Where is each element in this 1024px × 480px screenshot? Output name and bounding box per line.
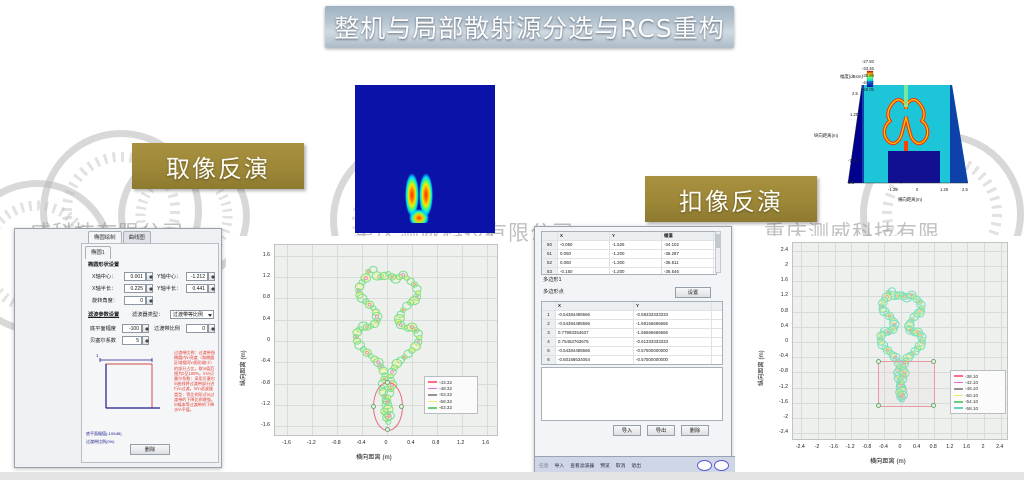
y-axis-tick: 2.4 — [768, 247, 788, 253]
legend-value: -58.10 — [965, 406, 978, 411]
plot3d-x-tick: 1.25 — [940, 187, 948, 192]
legend-value: -54.10 — [965, 399, 978, 404]
table-cell: -0.54384485666 — [556, 347, 634, 355]
x-axis-tick: 0.8 — [432, 440, 439, 446]
field-trans-ratio[interactable]: 0 — [186, 324, 208, 333]
spinner-rotation[interactable] — [146, 296, 153, 305]
x-axis-tick: 0.8 — [930, 444, 937, 450]
left-chart-legend: -43.32 -48.32 -53.32 -58.32 -63.32 — [424, 376, 478, 414]
table-row[interactable]: 510.050-1.200-36.287 — [542, 250, 716, 259]
rect-selection-overlay[interactable] — [878, 361, 935, 407]
table-header-cell: Y — [610, 232, 662, 240]
table-header-cell: X — [556, 302, 634, 310]
y-axis-tick: -2.4 — [768, 429, 788, 435]
mid-software-window: XY幅值50-0.050-1.525-34.102510.050-1.200-3… — [534, 226, 732, 474]
plot3d-cb-tick: -38.99 — [862, 73, 874, 78]
plot3d-cb-tick: -50.05 — [862, 87, 874, 92]
y-axis-tick: -1.2 — [250, 401, 270, 407]
y-axis-tick: 1.2 — [250, 273, 270, 279]
delete-row-button[interactable]: 删除 — [681, 425, 709, 436]
legend-value: -43.32 — [439, 380, 452, 385]
table-cell: 6 — [542, 356, 556, 364]
plot3d-y-tick: 2.5 — [852, 91, 858, 96]
legend-swatch — [428, 401, 437, 403]
status-view-filter[interactable]: 查看滤波器 — [570, 462, 594, 469]
table-cell: 0.050 — [558, 259, 610, 267]
table-header-row: XY — [542, 302, 722, 311]
table-row[interactable]: 6-0.50168634064-0.57500000000 — [542, 356, 722, 365]
plot3d-x-axis-title: 横向距离(m) — [898, 197, 922, 203]
section-label-polygon-points: 多边形点 — [543, 289, 564, 296]
diagram-label-ratio: 过渡带比例(0%) — [86, 438, 114, 445]
table-cell: 51 — [542, 250, 558, 258]
y-axis-tick: 1.2 — [768, 292, 788, 298]
status-preview[interactable]: 预览 — [600, 462, 610, 469]
filter-type-select[interactable]: 过渡带等比例 — [170, 310, 214, 319]
spinner-y-center[interactable] — [208, 272, 215, 281]
diagram-tick-top: 1 — [96, 352, 98, 359]
table-cell: -36.287 — [662, 250, 714, 258]
table-cell: -1.200 — [610, 250, 662, 258]
left-chart-x-title: 横向距离 (m) — [356, 452, 392, 461]
table-cell: 3 — [542, 329, 556, 337]
point-coordinate-table[interactable]: XY1-0.54384485666-0.583333333332-0.54384… — [541, 301, 723, 365]
table-cell: 5 — [542, 347, 556, 355]
ellipse-handle[interactable] — [399, 404, 404, 409]
screenshot-root: 威科技有限公司 重庆测威科技有限公司 重庆测威科技有限 整机与局部散射源分选与R… — [0, 0, 1024, 480]
field-label-x-center: X轴中心： — [92, 274, 116, 281]
table-header-cell — [542, 232, 558, 240]
legend-value: -58.32 — [439, 399, 452, 404]
plot3d-cb-tick: -27.93 — [862, 59, 874, 64]
table-cell: 0.050 — [558, 250, 610, 258]
three-d-plot-svg — [800, 55, 1015, 235]
y-axis-tick: -0.4 — [250, 358, 270, 364]
y-axis-tick: -0.8 — [250, 380, 270, 386]
table-cell: -1.66666666666 — [634, 329, 712, 337]
plot3d-colorbar-label: 幅度(dBsm) — [840, 74, 863, 80]
three-d-heat-plot: 幅度(dBsm) -27.93 -33.46 -38.99 -44.52 -50… — [800, 55, 1015, 235]
plot3d-cb-tick: -44.52 — [862, 80, 874, 85]
oval-icon[interactable] — [714, 460, 729, 471]
legend-value: -38.10 — [965, 374, 978, 379]
spinner-x-center[interactable] — [146, 272, 153, 281]
plot3d-x-tick: 2.5 — [962, 187, 968, 192]
x-axis-tick: -0.4 — [357, 440, 366, 446]
scrollbar-thumb[interactable] — [716, 234, 720, 248]
filter-group-title: 滤波参数设置 — [88, 312, 119, 319]
filter-schematic — [90, 350, 176, 430]
oval-icon[interactable] — [697, 460, 712, 471]
left-software-window: 椭圆绘制 曲线图 椭圆1 椭圆形状设置 X轴中心： 0.001 Y轴中心： -1… — [14, 228, 222, 468]
table-row[interactable]: 30.77993254637-1.66666666666 — [542, 329, 722, 338]
plot3d-x-tick: 0 — [916, 187, 918, 192]
y-axis-tick: 0.4 — [250, 316, 270, 322]
x-axis-tick: 0 — [899, 444, 902, 450]
x-axis-tick: 0.4 — [913, 444, 920, 450]
legend-value: -46.10 — [965, 386, 978, 391]
export-button[interactable]: 导出 — [647, 425, 675, 436]
legend-value: -42.10 — [965, 380, 978, 385]
table-header-cell: X — [558, 232, 610, 240]
field-bessel[interactable]: 5 — [122, 336, 142, 345]
amplitude-table[interactable]: XY幅值50-0.050-1.525-34.102510.050-1.200-3… — [541, 231, 717, 275]
y-axis-tick: -1.6 — [250, 422, 270, 428]
table-cell: 1 — [542, 311, 556, 319]
table-cell: -34.102 — [662, 241, 714, 249]
tag-right-text: 扣像反演 — [679, 182, 783, 217]
left-window-panel: 椭圆1 椭圆形状设置 X轴中心： 0.001 Y轴中心： -1.212 X轴半长… — [81, 243, 219, 463]
y-axis-tick: 1.6 — [768, 277, 788, 283]
left-chart-y-title: 纵向距离 (m) — [238, 350, 247, 386]
page-title: 整机与局部散射源分选与RCS重构 — [334, 9, 724, 45]
field-label-rotation: 旋转角度： — [92, 298, 118, 305]
legend-item: -63.32 — [428, 405, 474, 411]
right-chart-y-title: 纵向距离 (m) — [756, 350, 765, 386]
legend-value: -63.32 — [439, 405, 452, 410]
y-axis-tick: -0.8 — [768, 368, 788, 374]
table-cell: -36.546 — [662, 268, 714, 275]
mid-window-statusbar: 任意 导入 查看滤波器 预览 取消 退出 — [535, 456, 735, 473]
chevron-down-icon — [208, 314, 212, 317]
legend-value: -53.32 — [439, 392, 452, 397]
table-row[interactable]: 40.75463763676-0.61333333333 — [542, 338, 722, 347]
plot3d-y-tick: -1.25 — [848, 158, 858, 163]
plot3d-y-axis-title: 纵向距离(m) — [814, 133, 838, 139]
field-x-semi[interactable]: 0.225 — [124, 284, 146, 293]
legend-swatch — [954, 407, 963, 409]
y-axis-tick: 0 — [768, 338, 788, 344]
spinner-bessel[interactable] — [142, 336, 149, 345]
x-axis-tick: -1.6 — [282, 440, 291, 446]
spinner-x-semi[interactable] — [146, 284, 153, 293]
right-chart-x-title: 横向距离 (m) — [870, 456, 906, 465]
filter-type-label: 滤波器类型： — [132, 312, 163, 319]
rect-handle[interactable] — [876, 403, 881, 408]
ellipse-handle[interactable] — [371, 404, 376, 409]
field-y-semi[interactable]: 0.441 — [186, 284, 208, 293]
field-base-amp[interactable]: -100 — [122, 324, 142, 333]
filter-type-value: 过渡带等比例 — [173, 312, 203, 318]
sar-heat-image — [355, 85, 495, 233]
table-row[interactable]: 1-0.54384485666-0.58333333333 — [542, 311, 722, 320]
x-axis-tick: -0.4 — [879, 444, 888, 450]
label-tag-deduct-inversion: 扣像反演 — [645, 176, 817, 222]
field-label-base-amp: 底平面幅度 — [90, 326, 116, 333]
spinner-y-semi[interactable] — [208, 284, 215, 293]
field-label-y-center: Y轴中心： — [157, 274, 181, 281]
field-rotation[interactable]: 0 — [124, 296, 146, 305]
x-axis-tick: -2 — [815, 444, 820, 450]
right-scatter-chart: 纵向距离 (m) 横向距离 (m) -38.10 -42.10 -46.10 -… — [740, 236, 1024, 472]
sar-target-blob — [405, 171, 433, 223]
subtab-ellipse-1[interactable]: 椭圆1 — [85, 246, 111, 259]
bottom-strip — [0, 472, 1024, 480]
plot3d-y-tick: -2.5 — [847, 180, 854, 185]
import-button[interactable]: 导入 — [613, 425, 641, 436]
label-tag-image-inversion: 取像反演 — [132, 143, 304, 189]
table-cell: -1.200 — [610, 268, 662, 275]
legend-value: -50.10 — [965, 393, 978, 398]
section-label-polygon: 多边形1 — [543, 277, 561, 284]
delete-button[interactable]: 删除 — [130, 444, 170, 455]
table-cell: 4 — [542, 338, 556, 346]
plot3d-x-tick: -1.25 — [888, 187, 898, 192]
x-axis-tick: 0 — [385, 440, 388, 446]
field-label-y-semi: Y轴半长： — [157, 286, 181, 293]
spinner-base-amp[interactable] — [142, 324, 149, 333]
table-cell: -0.50168634064 — [556, 356, 634, 364]
table-cell: 2 — [542, 320, 556, 328]
amplitude-table-scrollbar[interactable] — [715, 231, 721, 273]
y-axis-tick: 0.4 — [768, 323, 788, 329]
legend-swatch — [954, 375, 963, 377]
status-exit[interactable]: 退出 — [631, 462, 641, 469]
table-cell: -0.57500000000 — [634, 356, 712, 364]
table-row[interactable]: 2-0.54384485666-1.69166666666 — [542, 320, 722, 329]
spinner-trans-ratio[interactable] — [208, 324, 215, 333]
x-axis-tick: 1.6 — [482, 440, 489, 446]
field-label-trans-ratio: 过渡带比例 — [154, 326, 180, 333]
field-label-bessel: 贝塞尔系数 — [90, 338, 116, 345]
table-header-cell — [542, 302, 556, 310]
x-axis-tick: 0.4 — [407, 440, 414, 446]
legend-value: -48.32 — [439, 386, 452, 391]
table-cell: -1.69166666666 — [634, 320, 712, 328]
table-cell: -0.57500000000 — [634, 347, 712, 355]
x-axis-tick: -1.2 — [846, 444, 855, 450]
y-axis-tick: 0.8 — [768, 308, 788, 314]
y-axis-tick: 1.6 — [250, 252, 270, 258]
table-cell: -0.54384485666 — [556, 311, 634, 319]
x-axis-tick: 2 — [982, 444, 985, 450]
y-axis-tick: -0.4 — [768, 353, 788, 359]
field-label-x-semi: X轴半长： — [92, 286, 116, 293]
table-cell: 0.75463763676 — [556, 338, 634, 346]
legend-swatch — [428, 381, 437, 383]
table-row[interactable]: 520.050-1.300-36.511 — [542, 259, 716, 268]
table-row[interactable]: 50-0.050-1.525-34.102 — [542, 241, 716, 250]
x-axis-tick: -0.8 — [332, 440, 341, 446]
page-title-banner: 整机与局部散射源分选与RCS重构 — [325, 6, 734, 48]
y-axis-tick: -1.2 — [768, 384, 788, 390]
field-x-center[interactable]: 0.001 — [124, 272, 146, 281]
legend-swatch — [954, 395, 963, 397]
table-cell: 50 — [542, 241, 558, 249]
settings-button[interactable]: 设置 — [675, 287, 711, 298]
y-axis-tick: 0 — [250, 337, 270, 343]
x-axis-tick: 1.2 — [946, 444, 953, 450]
table-cell: -0.150 — [558, 268, 610, 275]
table-cell: 52 — [542, 259, 558, 267]
table-cell: -0.61333333333 — [634, 338, 712, 346]
x-axis-tick: -1.6 — [829, 444, 838, 450]
field-y-center[interactable]: -1.212 — [186, 272, 208, 281]
legend-swatch — [428, 394, 437, 396]
x-axis-tick: -0.8 — [862, 444, 871, 450]
plot3d-y-tick: 1.25 — [850, 112, 858, 117]
x-axis-tick: 1.2 — [457, 440, 464, 446]
status-cancel[interactable]: 取消 — [616, 462, 626, 469]
status-label-any: 任意 — [539, 462, 549, 469]
tag-left-text: 取像反演 — [166, 149, 270, 184]
table-cell: -1.300 — [610, 259, 662, 267]
table-row[interactable]: 53-0.150-1.200-36.546 — [542, 268, 716, 275]
x-axis-tick: 1.6 — [963, 444, 970, 450]
status-import[interactable]: 导入 — [555, 462, 565, 469]
ellipse-group-title: 椭圆形状设置 — [88, 262, 119, 269]
table-cell: -0.58333333333 — [634, 311, 712, 319]
table-header-cell: 幅值 — [662, 232, 714, 240]
legend-swatch — [954, 388, 963, 390]
legend-item: -58.10 — [954, 405, 1002, 411]
table-cell: -0.54384485666 — [556, 320, 634, 328]
empty-area — [541, 367, 723, 421]
legend-swatch — [954, 401, 963, 403]
legend-swatch — [954, 382, 963, 384]
filter-note-text: 过渡带比例：过渡带指椭圆内\n亮度（和椭圆区域相同\n图形缩小）的部分占比，取\… — [174, 350, 216, 412]
table-cell: -0.050 — [558, 241, 610, 249]
left-scatter-chart: 纵向距离 (m) 横向距离 (m) -43.32 -48.32 -53.32 -… — [226, 236, 508, 472]
table-row[interactable]: 5-0.54384485666-0.57500000000 — [542, 347, 722, 356]
y-axis-tick: 0.8 — [250, 294, 270, 300]
table-cell: -36.511 — [662, 259, 714, 267]
y-axis-tick: -2 — [768, 414, 788, 420]
y-axis-tick: -1.6 — [768, 399, 788, 405]
x-axis-tick: 2.4 — [996, 444, 1003, 450]
table-cell: 53 — [542, 268, 558, 275]
table-cell: -1.525 — [610, 241, 662, 249]
plot3d-cb-tick: -33.46 — [862, 66, 874, 71]
table-header-row: XY幅值 — [542, 232, 716, 241]
diagram-label-base: 底平面幅值(-100dB) — [86, 430, 122, 437]
x-axis-tick: -1.2 — [307, 440, 316, 446]
right-chart-legend: -38.10 -42.10 -46.10 -50.10 -54.10 -58.1… — [950, 370, 1006, 414]
legend-swatch — [428, 388, 437, 390]
legend-swatch — [428, 407, 437, 409]
table-cell: 0.77993254637 — [556, 329, 634, 337]
x-axis-tick: -2.4 — [796, 444, 805, 450]
table-header-cell: Y — [634, 302, 712, 310]
y-axis-tick: 2 — [768, 262, 788, 268]
